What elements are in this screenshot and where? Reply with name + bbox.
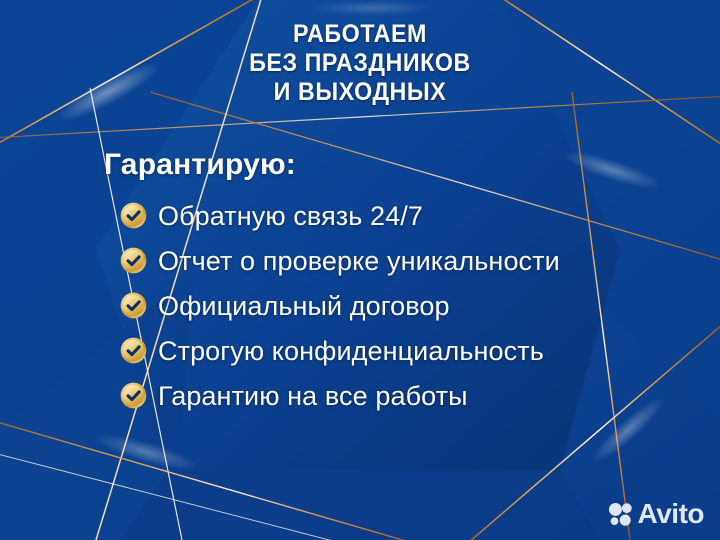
list-item-label: Официальный договор — [158, 291, 450, 321]
guarantee-block: Гарантирую: — [104, 148, 560, 418]
check-circle-icon — [120, 292, 147, 319]
headline-line-1: РАБОТАЕМ — [25, 20, 695, 49]
avito-dots-icon — [607, 501, 633, 527]
poster-headline: РАБОТАЕМ БЕЗ ПРАЗДНИКОВ И ВЫХОДНЫХ — [0, 20, 720, 107]
list-item-label: Обратную связь 24/7 — [158, 201, 423, 231]
avito-watermark: Avito — [607, 500, 704, 528]
check-circle-icon — [120, 247, 147, 274]
check-circle-icon — [120, 337, 147, 364]
guarantee-list: Обратную связь 24/7 Отчет о проверке уни… — [104, 193, 560, 418]
promo-poster: РАБОТАЕМ БЕЗ ПРАЗДНИКОВ И ВЫХОДНЫХ Гаран… — [0, 0, 720, 540]
avito-wordmark: Avito — [638, 500, 704, 528]
check-circle-icon — [120, 382, 147, 409]
list-item-label: Отчет о проверке уникальности — [158, 246, 560, 276]
list-item: Обратную связь 24/7 — [120, 193, 560, 238]
headline-line-3: И ВЫХОДНЫХ — [25, 78, 695, 107]
list-item: Строгую конфиденциальность — [120, 328, 560, 373]
guarantee-heading: Гарантирую: — [104, 148, 560, 182]
list-item-label: Гарантию на все работы — [158, 381, 468, 411]
list-item: Официальный договор — [120, 283, 560, 328]
list-item: Отчет о проверке уникальности — [120, 238, 560, 283]
list-item-label: Строгую конфиденциальность — [158, 336, 544, 366]
list-item: Гарантию на все работы — [120, 373, 560, 418]
check-circle-icon — [120, 202, 147, 229]
headline-line-2: БЕЗ ПРАЗДНИКОВ — [25, 49, 695, 78]
